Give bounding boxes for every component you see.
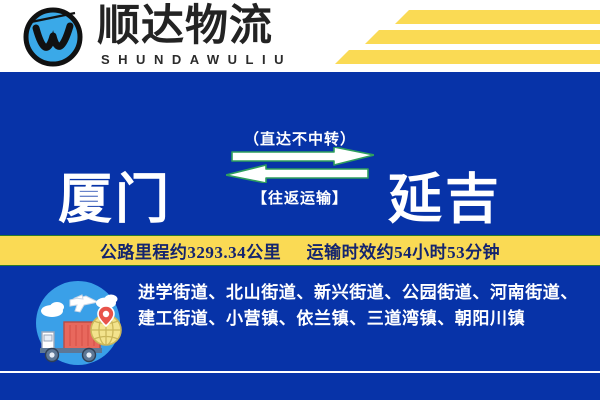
truck-globe-airplane-icon (26, 278, 130, 368)
yellow-slanted-stripes-icon (320, 0, 600, 72)
coverage-line-1: 进学街道、北山街道、新兴街道、公园街道、河南街道、 (138, 280, 584, 306)
distance-text: 公路里程约3293.34公里 (100, 243, 281, 262)
round-trip-note-wrap: 【往返运输】 (0, 187, 600, 208)
double-headed-arrow-icon (226, 147, 374, 183)
duration-text: 运输时效约54小时53分钟 (307, 243, 501, 262)
poster-header: 顺达物流 SHUNDAWULIU (0, 0, 600, 72)
coverage-line-2: 建工街道、小营镇、依兰镇、三道湾镇、朝阳川镇 (138, 306, 584, 332)
stats-bar-content: 公路里程约3293.34公里 运输时效约54小时53分钟 (100, 238, 500, 263)
brand-name-cn: 顺达物流 (97, 4, 273, 50)
direct-route-note-wrap: （直达不中转） (0, 128, 600, 149)
coverage-section: 进学街道、北山街道、新兴街道、公园街道、河南街道、 建工街道、小营镇、依兰镇、三… (0, 266, 600, 372)
direct-route-note: （直达不中转） (244, 132, 356, 148)
logistics-route-poster: 顺达物流 SHUNDAWULIU 厦门 延吉 （直达不中转） 【往返运输】 公路… (0, 0, 600, 400)
swoosh-circle-logo-icon (22, 6, 84, 68)
poster-footer (0, 373, 600, 400)
stripe-1 (395, 10, 600, 24)
stats-bar: 公路里程约3293.34公里 运输时效约54小时53分钟 (0, 235, 600, 266)
stripe-2 (365, 30, 600, 44)
route-band: 厦门 延吉 （直达不中转） 【往返运输】 (0, 72, 600, 235)
brand-name-en: SHUNDAWULIU (101, 52, 292, 67)
round-trip-note: 【往返运输】 (252, 191, 348, 207)
stripe-3 (335, 50, 600, 64)
coverage-area-list: 进学街道、北山街道、新兴街道、公园街道、河南街道、 建工街道、小营镇、依兰镇、三… (138, 280, 584, 332)
